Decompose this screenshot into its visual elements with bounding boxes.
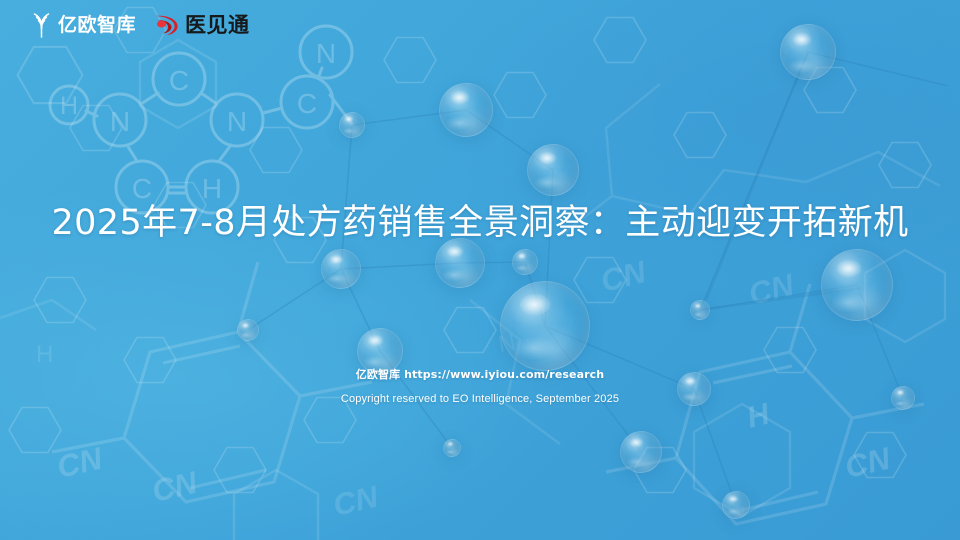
footer: 亿欧智库 https://www.iyiou.com/research Copy…: [0, 366, 960, 407]
svg-text:N: N: [316, 38, 336, 69]
logo-yjt-label: 医见通: [185, 15, 250, 36]
svg-text:C: C: [297, 88, 317, 119]
background-bubble: [620, 431, 662, 473]
red-swoosh-icon: [154, 13, 180, 37]
background-bubble: [321, 249, 361, 289]
svg-text:CN: CN: [54, 441, 106, 485]
background-bubble: [500, 281, 590, 371]
svg-text:CN: CN: [597, 254, 650, 299]
svg-text:CN: CN: [149, 465, 201, 509]
background-bubble: [439, 83, 493, 137]
logo-yijiantong[interactable]: 医见通: [154, 13, 250, 37]
svg-text:CN: CN: [842, 441, 894, 485]
svg-text:CN: CN: [330, 479, 382, 523]
slide-root: H N C N C C H N CN CN: [0, 0, 960, 540]
background-bubble: [237, 319, 259, 341]
footer-copyright-line: Copyright reserved to EO Intelligence, S…: [0, 391, 960, 407]
y-trident-icon: [30, 12, 53, 38]
svg-text:CN: CN: [745, 267, 798, 312]
svg-text:N: N: [227, 106, 247, 137]
footer-source-line: 亿欧智库 https://www.iyiou.com/research: [0, 366, 960, 383]
logo-bar: 亿欧智库 医见通: [30, 12, 250, 38]
svg-text:N: N: [110, 106, 130, 137]
svg-text:H: H: [36, 341, 53, 368]
logo-eo-label: 亿欧智库: [58, 16, 136, 35]
logo-eo-intelligence[interactable]: 亿欧智库: [30, 12, 136, 38]
background-bubble: [780, 24, 836, 80]
background-bubble: [512, 249, 538, 275]
svg-text:C: C: [169, 65, 189, 96]
background-bubble: [527, 144, 579, 196]
background-bubble: [443, 439, 461, 457]
background-bubble: [821, 249, 893, 321]
svg-text:H: H: [60, 92, 78, 120]
background-bubble: [690, 300, 710, 320]
background-bubble: [722, 491, 750, 519]
page-title: 2025年7-8月处方药销售全景洞察：主动迎变开拓新机: [0, 200, 960, 246]
background-bubble: [339, 112, 365, 138]
